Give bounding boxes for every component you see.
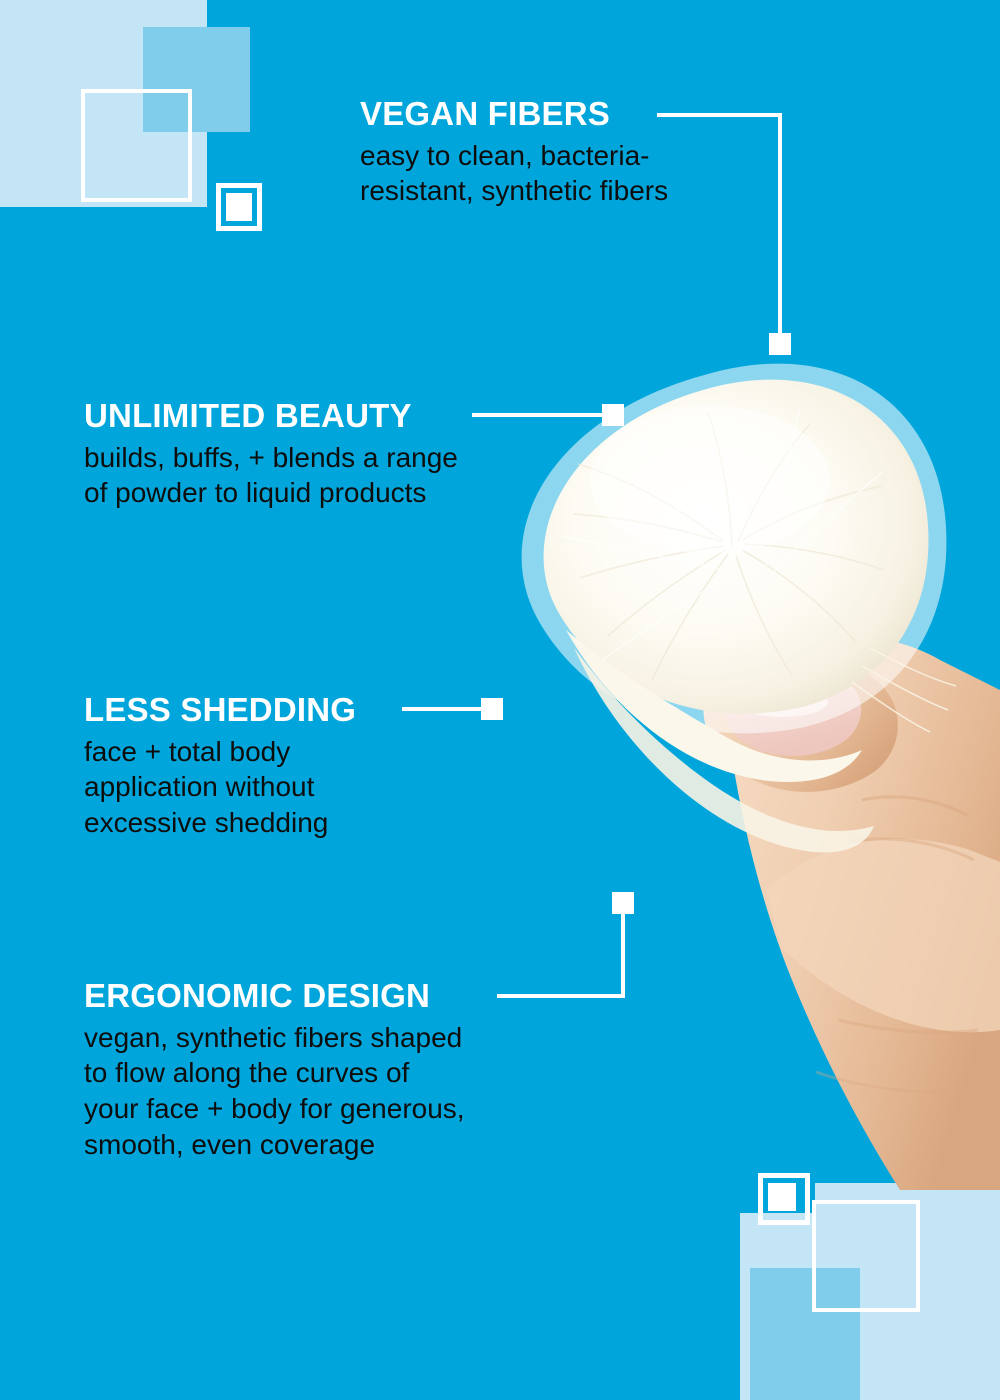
callout-heading-vegan-fibers: VEGAN FIBERS [360, 96, 668, 132]
connector-node-ergonomic-design [612, 892, 634, 914]
callout-unlimited-beauty: UNLIMITED BEAUTY builds, buffs, + blends… [84, 398, 458, 511]
connector-line-less-shedding-horizontal [402, 707, 487, 711]
callout-heading-less-shedding: LESS SHEDDING [84, 692, 356, 728]
connector-line-ergonomic-design-horizontal [497, 994, 625, 998]
callout-body-line: of powder to liquid products [84, 477, 426, 508]
callout-less-shedding: LESS SHEDDING face + total body applicat… [84, 692, 356, 841]
connector-line-ergonomic-design-vertical [621, 912, 625, 998]
connector-node-unlimited-beauty [602, 404, 624, 426]
connector-line-vegan-fibers-vertical [778, 113, 782, 336]
callout-vegan-fibers: VEGAN FIBERS easy to clean, bacteria- re… [360, 96, 668, 209]
connector-node-vegan-fibers [769, 333, 791, 355]
callout-body-less-shedding: face + total body application without ex… [84, 734, 356, 841]
connector-line-vegan-fibers-horizontal [657, 113, 782, 117]
callout-body-ergonomic-design: vegan, synthetic fibers shaped to flow a… [84, 1020, 465, 1163]
callout-body-unlimited-beauty: builds, buffs, + blends a range of powde… [84, 440, 458, 512]
callout-heading-ergonomic-design: ERGONOMIC DESIGN [84, 978, 465, 1014]
product-photo-brush-in-hand [470, 330, 1000, 1190]
callout-body-line: to flow along the curves of [84, 1057, 409, 1088]
callout-body-line: your face + body for generous, [84, 1093, 465, 1124]
infographic-poster: VEGAN FIBERS easy to clean, bacteria- re… [0, 0, 1000, 1400]
callout-ergonomic-design: ERGONOMIC DESIGN vegan, synthetic fibers… [84, 978, 465, 1163]
decorative-square-outline-bottom-right [812, 1200, 920, 1312]
callout-heading-unlimited-beauty: UNLIMITED BEAUTY [84, 398, 458, 434]
callout-body-line: builds, buffs, + blends a range [84, 442, 458, 473]
callout-body-line: excessive shedding [84, 807, 328, 838]
decorative-square-outline-top-left [81, 89, 192, 202]
callout-body-line: vegan, synthetic fibers shaped [84, 1022, 462, 1053]
callout-body-line: face + total body [84, 736, 290, 767]
callout-body-vegan-fibers: easy to clean, bacteria- resistant, synt… [360, 138, 668, 210]
connector-line-unlimited-beauty-horizontal [472, 413, 607, 417]
callout-body-line: easy to clean, bacteria- [360, 140, 650, 171]
callout-body-line: smooth, even coverage [84, 1129, 375, 1160]
decorative-square-small-fill-top-left [226, 193, 252, 221]
callout-body-line: resistant, synthetic fibers [360, 175, 668, 206]
callout-body-line: application without [84, 771, 314, 802]
connector-node-less-shedding [481, 698, 503, 720]
